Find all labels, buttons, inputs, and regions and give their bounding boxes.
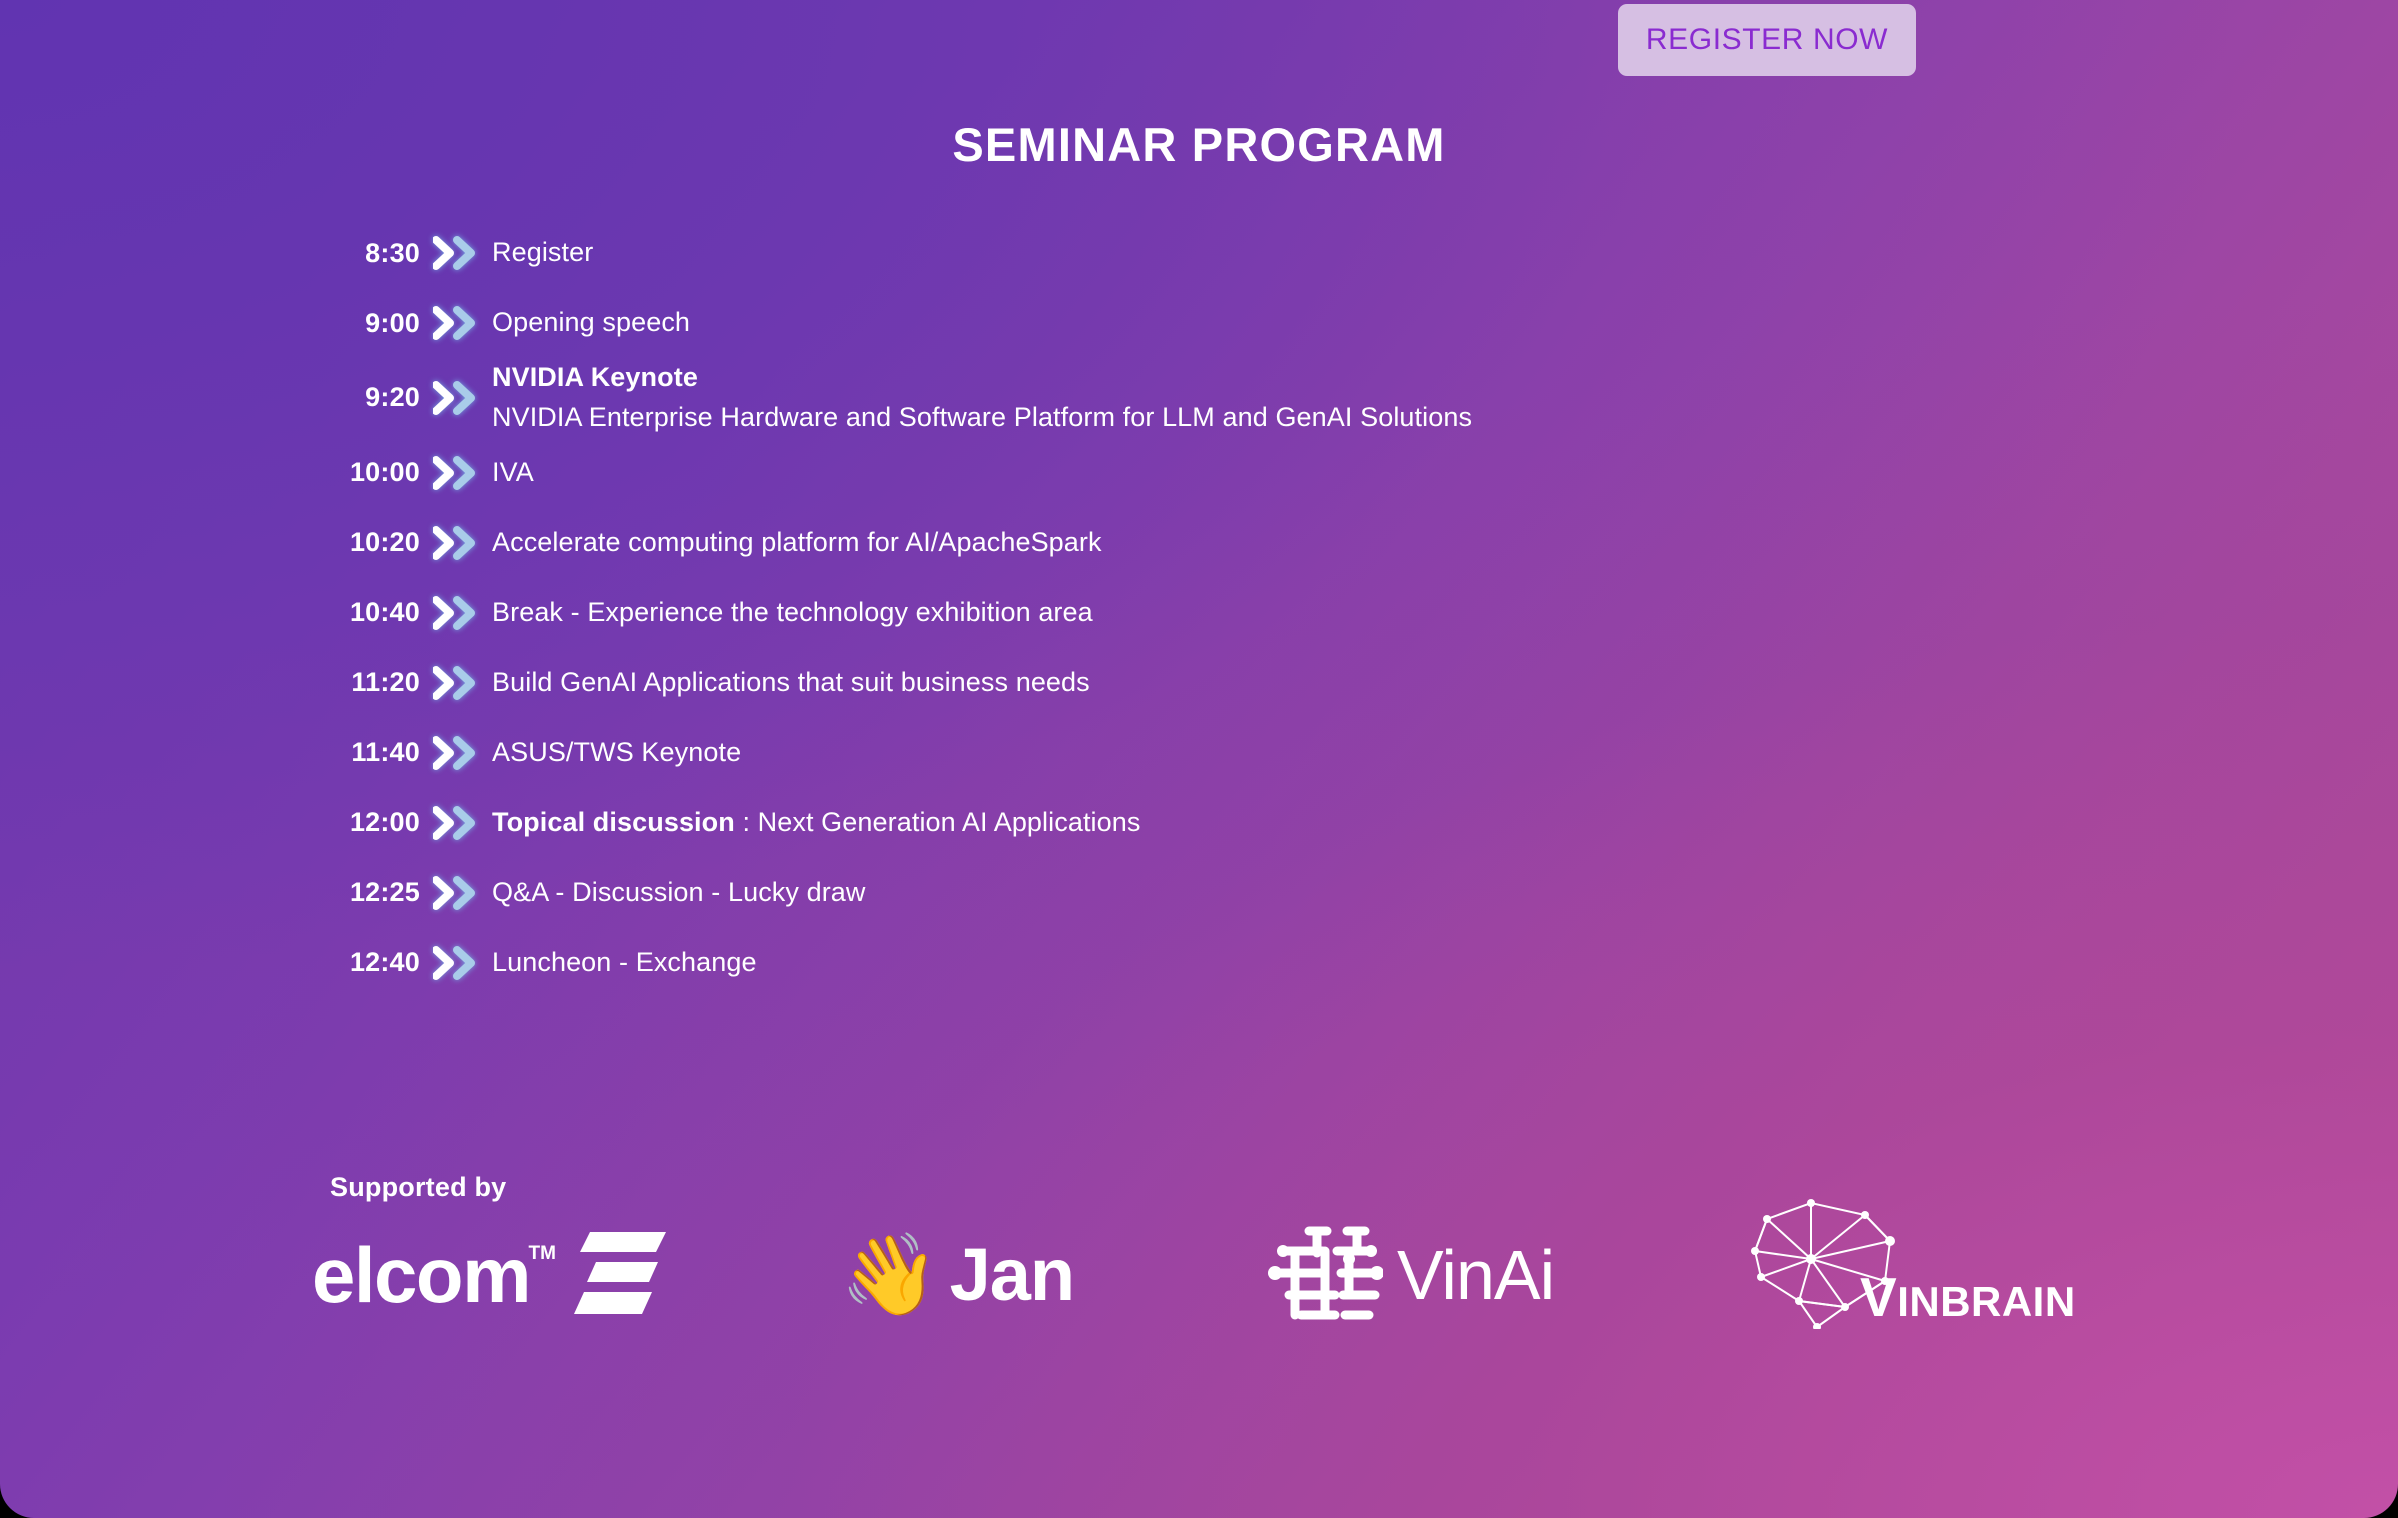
elcom-wordmark-text: elcom — [312, 1231, 530, 1319]
elcom-e-mark-icon — [574, 1230, 666, 1321]
agenda-row-time: 10:00 — [330, 457, 420, 488]
double-chevron-right-icon — [420, 456, 492, 490]
agenda-row-text: IVA — [492, 453, 534, 493]
vinbrain-wordmark-rest: INBRAIN — [1897, 1278, 2076, 1325]
sponsor-logo-strip: elcom TM 👋 Jan — [300, 1215, 2300, 1345]
sponsor-logo-elcom: elcom TM — [312, 1215, 666, 1335]
agenda-row-text: Register — [492, 233, 593, 273]
agenda-row-title: IVA — [492, 457, 534, 487]
agenda-row-text: Luncheon - Exchange — [492, 943, 757, 983]
vinbrain-wordmark-cap: V — [1860, 1266, 1897, 1328]
agenda-row-title: Luncheon - Exchange — [492, 947, 757, 977]
agenda-row: 9:20 NVIDIA KeynoteNVIDIA Enterprise Har… — [330, 358, 2080, 438]
agenda-list: 8:30 Register9:00 Opening speech9:20 NVI… — [330, 218, 2080, 998]
agenda-row: 10:00 IVA — [330, 438, 2080, 508]
agenda-row: 9:00 Opening speech — [330, 288, 2080, 358]
vinbrain-wordmark: VINBRAIN — [1860, 1270, 2076, 1325]
elcom-wordmark: elcom TM — [312, 1236, 530, 1314]
agenda-row-time: 10:40 — [330, 597, 420, 628]
agenda-row-time: 11:20 — [330, 667, 420, 698]
agenda-row-time: 9:20 — [330, 382, 420, 413]
agenda-row: 12:00 Topical discussion : Next Generati… — [330, 788, 2080, 858]
agenda-row-title: NVIDIA Keynote — [492, 362, 698, 392]
seminar-program-slide: REGISTER NOW SEMINAR PROGRAM 8:30 Regist… — [0, 0, 2398, 1518]
double-chevron-right-icon — [420, 946, 492, 980]
elcom-trademark-symbol: TM — [529, 1244, 556, 1263]
agenda-row-title: Q&A - Discussion - Lucky draw — [492, 877, 866, 907]
agenda-row-text: ASUS/TWS Keynote — [492, 733, 741, 773]
agenda-row: 11:40 ASUS/TWS Keynote — [330, 718, 2080, 788]
agenda-row-title: Break - Experience the technology exhibi… — [492, 597, 1093, 627]
agenda-row-time: 11:40 — [330, 737, 420, 768]
agenda-row-text: Q&A - Discussion - Lucky draw — [492, 873, 866, 913]
double-chevron-right-icon — [420, 306, 492, 340]
agenda-row: 10:40 Break - Experience the technology … — [330, 578, 2080, 648]
agenda-row-text: Opening speech — [492, 303, 690, 343]
agenda-row: 12:40 Luncheon - Exchange — [330, 928, 2080, 998]
agenda-row-text: NVIDIA KeynoteNVIDIA Enterprise Hardware… — [492, 358, 1472, 438]
page-title: SEMINAR PROGRAM — [0, 117, 2398, 172]
double-chevron-right-icon — [420, 236, 492, 270]
sponsor-logo-vinbrain: VINBRAIN — [1725, 1199, 2055, 1319]
agenda-row: 12:25 Q&A - Discussion - Lucky draw — [330, 858, 2080, 928]
agenda-row-text: Build GenAI Applications that suit busin… — [492, 663, 1090, 703]
double-chevron-right-icon — [420, 876, 492, 910]
supported-by-label: Supported by — [330, 1172, 506, 1203]
double-chevron-right-icon — [420, 736, 492, 770]
waving-hand-icon: 👋 — [840, 1235, 940, 1315]
agenda-row-time: 8:30 — [330, 238, 420, 269]
jan-wordmark: Jan — [950, 1238, 1075, 1312]
sponsor-logo-jan: 👋 Jan — [840, 1215, 1074, 1335]
agenda-row-title: Opening speech — [492, 307, 690, 337]
register-now-button[interactable]: REGISTER NOW — [1618, 4, 1916, 76]
vinai-circuit-mark-icon — [1265, 1219, 1383, 1332]
agenda-row-title: ASUS/TWS Keynote — [492, 737, 741, 767]
agenda-row-text: Break - Experience the technology exhibi… — [492, 593, 1093, 633]
vinai-wordmark: VinAi — [1397, 1240, 1554, 1310]
agenda-row-title-suffix: : Next Generation AI Applications — [735, 807, 1141, 837]
agenda-row-time: 10:20 — [330, 527, 420, 558]
agenda-row-title: Build GenAI Applications that suit busin… — [492, 667, 1090, 697]
agenda-row-time: 12:00 — [330, 807, 420, 838]
double-chevron-right-icon — [420, 806, 492, 840]
agenda-row-detail: NVIDIA Enterprise Hardware and Software … — [492, 398, 1472, 438]
agenda-row-time: 12:25 — [330, 877, 420, 908]
agenda-row-title: Accelerate computing platform for AI/Apa… — [492, 527, 1102, 557]
double-chevron-right-icon — [420, 666, 492, 700]
agenda-row: 11:20 Build GenAI Applications that suit… — [330, 648, 2080, 718]
agenda-row-time: 12:40 — [330, 947, 420, 978]
double-chevron-right-icon — [420, 381, 492, 415]
agenda-row: 10:20 Accelerate computing platform for … — [330, 508, 2080, 578]
agenda-row: 8:30 Register — [330, 218, 2080, 288]
agenda-row-text: Accelerate computing platform for AI/Apa… — [492, 523, 1102, 563]
double-chevron-right-icon — [420, 526, 492, 560]
sponsor-logo-vinai: VinAi — [1265, 1215, 1554, 1335]
agenda-row-title: Topical discussion — [492, 807, 735, 837]
double-chevron-right-icon — [420, 596, 492, 630]
agenda-row-text: Topical discussion : Next Generation AI … — [492, 803, 1141, 843]
agenda-row-title: Register — [492, 237, 593, 267]
agenda-row-time: 9:00 — [330, 308, 420, 339]
